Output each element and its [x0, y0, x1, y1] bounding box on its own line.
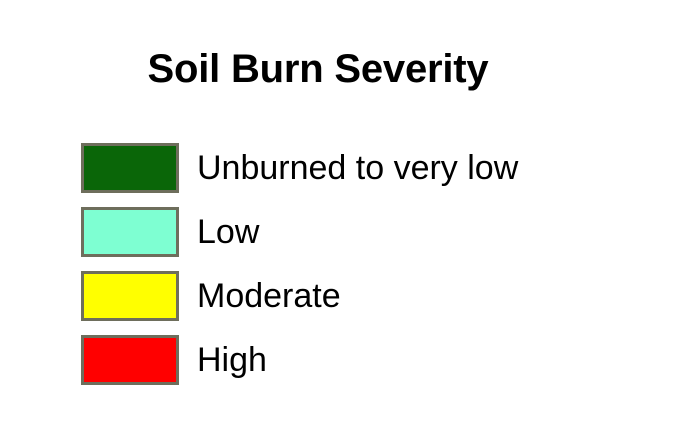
legend-item-high: High — [81, 335, 681, 385]
legend-label-high: High — [197, 341, 681, 379]
swatch-unburned-to-very-low-icon — [81, 143, 179, 193]
legend-item-unburned-to-very-low: Unburned to very low — [81, 143, 681, 193]
legend-label-low: Low — [197, 213, 681, 251]
swatch-high-icon — [81, 335, 179, 385]
legend-label-moderate: Moderate — [197, 277, 681, 315]
swatch-moderate-icon — [81, 271, 179, 321]
legend-title: Soil Burn Severity — [0, 46, 636, 92]
legend-item-moderate: Moderate — [81, 271, 681, 321]
legend-label-unburned-to-very-low: Unburned to very low — [197, 149, 681, 187]
legend-item-list: Unburned to very low Low Moderate High — [81, 143, 681, 385]
soil-burn-severity-legend: Soil Burn Severity Unburned to very low … — [0, 0, 695, 442]
legend-item-low: Low — [81, 207, 681, 257]
swatch-low-icon — [81, 207, 179, 257]
